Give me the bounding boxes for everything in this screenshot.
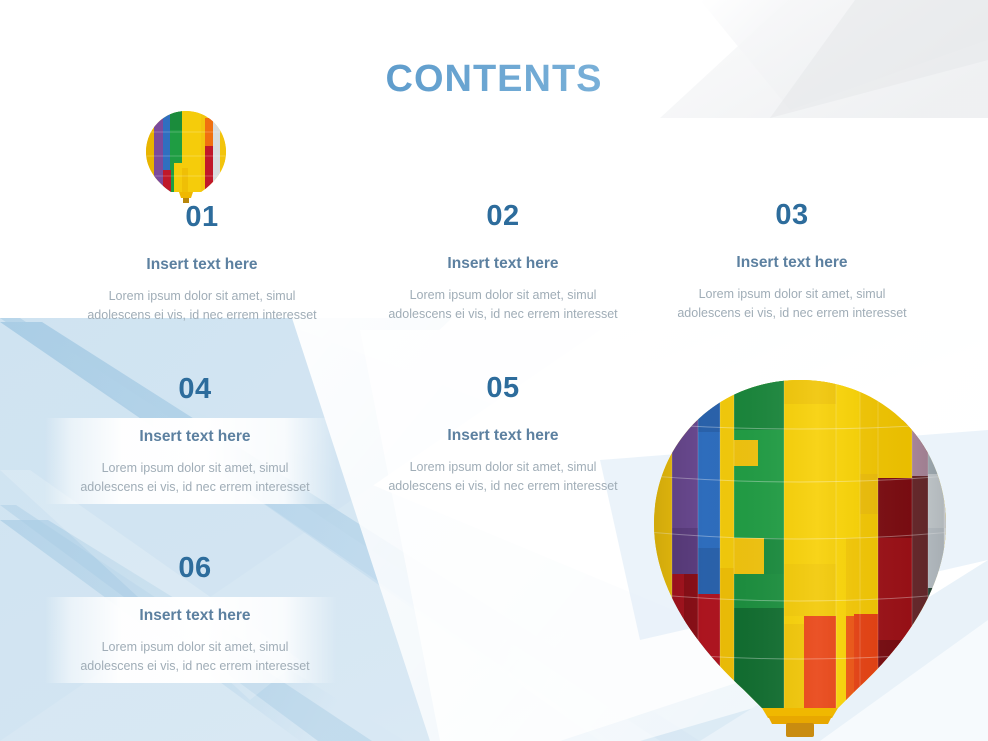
content-item-01[interactable]: 01 Insert text here Lorem ipsum dolor si… <box>86 203 318 325</box>
item-body-04: Lorem ipsum dolor sit amet, simul adoles… <box>79 459 311 498</box>
item-body-02: Lorem ipsum dolor sit amet, simul adoles… <box>387 286 619 325</box>
item-body-06: Lorem ipsum dolor sit amet, simul adoles… <box>79 638 311 677</box>
content-item-06[interactable]: 06 Insert text here Lorem ipsum dolor si… <box>79 554 311 676</box>
item-number-03: 03 <box>676 201 908 230</box>
item-heading-06: Insert text here <box>79 608 311 624</box>
hot-air-balloon-icon <box>141 108 231 204</box>
content-item-05[interactable]: 05 Insert text here Lorem ipsum dolor si… <box>387 374 619 496</box>
item-heading-05: Insert text here <box>387 428 619 444</box>
item-body-01: Lorem ipsum dolor sit amet, simul adoles… <box>86 287 318 326</box>
content-item-02[interactable]: 02 Insert text here Lorem ipsum dolor si… <box>387 202 619 324</box>
item-body-05: Lorem ipsum dolor sit amet, simul adoles… <box>387 458 619 497</box>
item-heading-04: Insert text here <box>79 429 311 445</box>
hot-air-balloon-photo <box>628 378 972 741</box>
item-heading-02: Insert text here <box>387 256 619 272</box>
content-item-03[interactable]: 03 Insert text here Lorem ipsum dolor si… <box>676 201 908 323</box>
item-body-03: Lorem ipsum dolor sit amet, simul adoles… <box>676 285 908 324</box>
content-item-04[interactable]: 04 Insert text here Lorem ipsum dolor si… <box>79 375 311 497</box>
item-heading-03: Insert text here <box>676 255 908 271</box>
item-number-04: 04 <box>79 375 311 404</box>
item-number-01: 01 <box>86 203 318 232</box>
item-heading-01: Insert text here <box>86 257 318 273</box>
slide-canvas: CONTENTS <box>0 0 988 741</box>
item-number-06: 06 <box>79 554 311 583</box>
item-number-05: 05 <box>387 374 619 403</box>
page-title: CONTENTS <box>0 58 988 101</box>
item-number-02: 02 <box>387 202 619 231</box>
